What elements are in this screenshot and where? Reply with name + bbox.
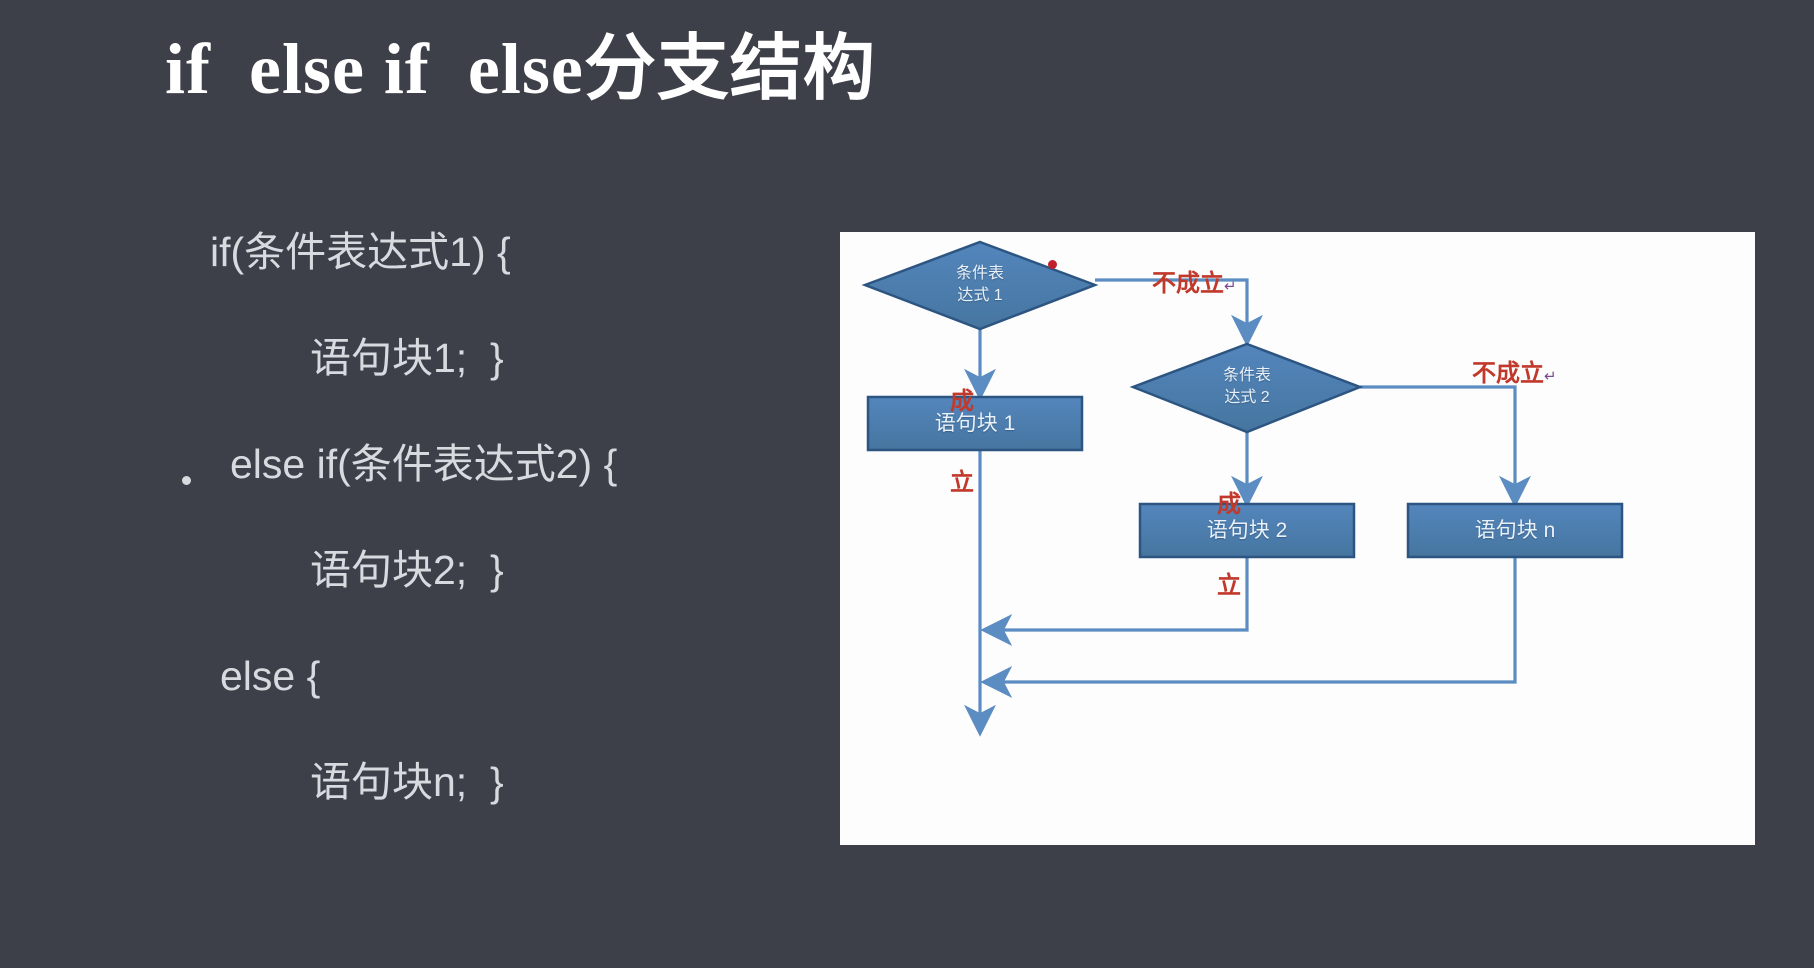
bullet-dot-icon: [182, 476, 191, 485]
edge-blockn-merge: [985, 557, 1515, 682]
flowchart-svg: [840, 232, 1755, 845]
edge-label-cond1-false: 不成立↵: [1112, 245, 1237, 326]
node-condition-2: [1133, 344, 1360, 432]
edge-label-cond1-true-char2: 立: [949, 469, 975, 496]
red-dot-marker-icon: [1048, 260, 1057, 269]
edge-block2-merge: [985, 557, 1247, 630]
edge-label-cond1-false-text: 不成立: [1152, 270, 1224, 297]
edge-label-cond2-true: 成 立: [1216, 437, 1242, 653]
node-block-n: [1408, 504, 1622, 557]
code-line-4: 语句块2; }: [310, 546, 810, 594]
code-line-6: 语句块n; }: [310, 758, 810, 806]
paragraph-mark-icon-2: ↵: [1544, 368, 1557, 385]
edge-label-cond2-true-char2: 立: [1216, 572, 1242, 599]
flowchart-panel: 条件表 达式 1 条件表 达式 2 语句块 1 语句块 2 语句块 n 不成立↵…: [840, 232, 1755, 845]
edge-label-cond2-true-char1: 成: [1216, 491, 1242, 518]
code-line-3: else if(条件表达式2) {: [230, 440, 810, 488]
edge-label-cond1-true-char1: 成: [949, 388, 975, 415]
edge-label-cond1-true: 成 立: [949, 334, 975, 550]
code-line-1: if(条件表达式1) {: [210, 228, 810, 276]
edge-label-cond2-false-text: 不成立: [1472, 360, 1544, 387]
node-condition-1: [865, 242, 1095, 329]
paragraph-mark-icon: ↵: [1224, 278, 1237, 295]
slide-canvas: if else if else分支结构 if(条件表达式1) { 语句块1; }…: [0, 0, 1814, 968]
edge-label-cond2-false: 不成立↵: [1432, 335, 1557, 416]
page-title: if else if else分支结构: [165, 26, 876, 112]
code-line-2: 语句块1; }: [310, 334, 810, 382]
code-line-5: else {: [220, 652, 810, 700]
code-text-block: if(条件表达式1) { 语句块1; } else if(条件表达式2) { 语…: [170, 228, 810, 806]
